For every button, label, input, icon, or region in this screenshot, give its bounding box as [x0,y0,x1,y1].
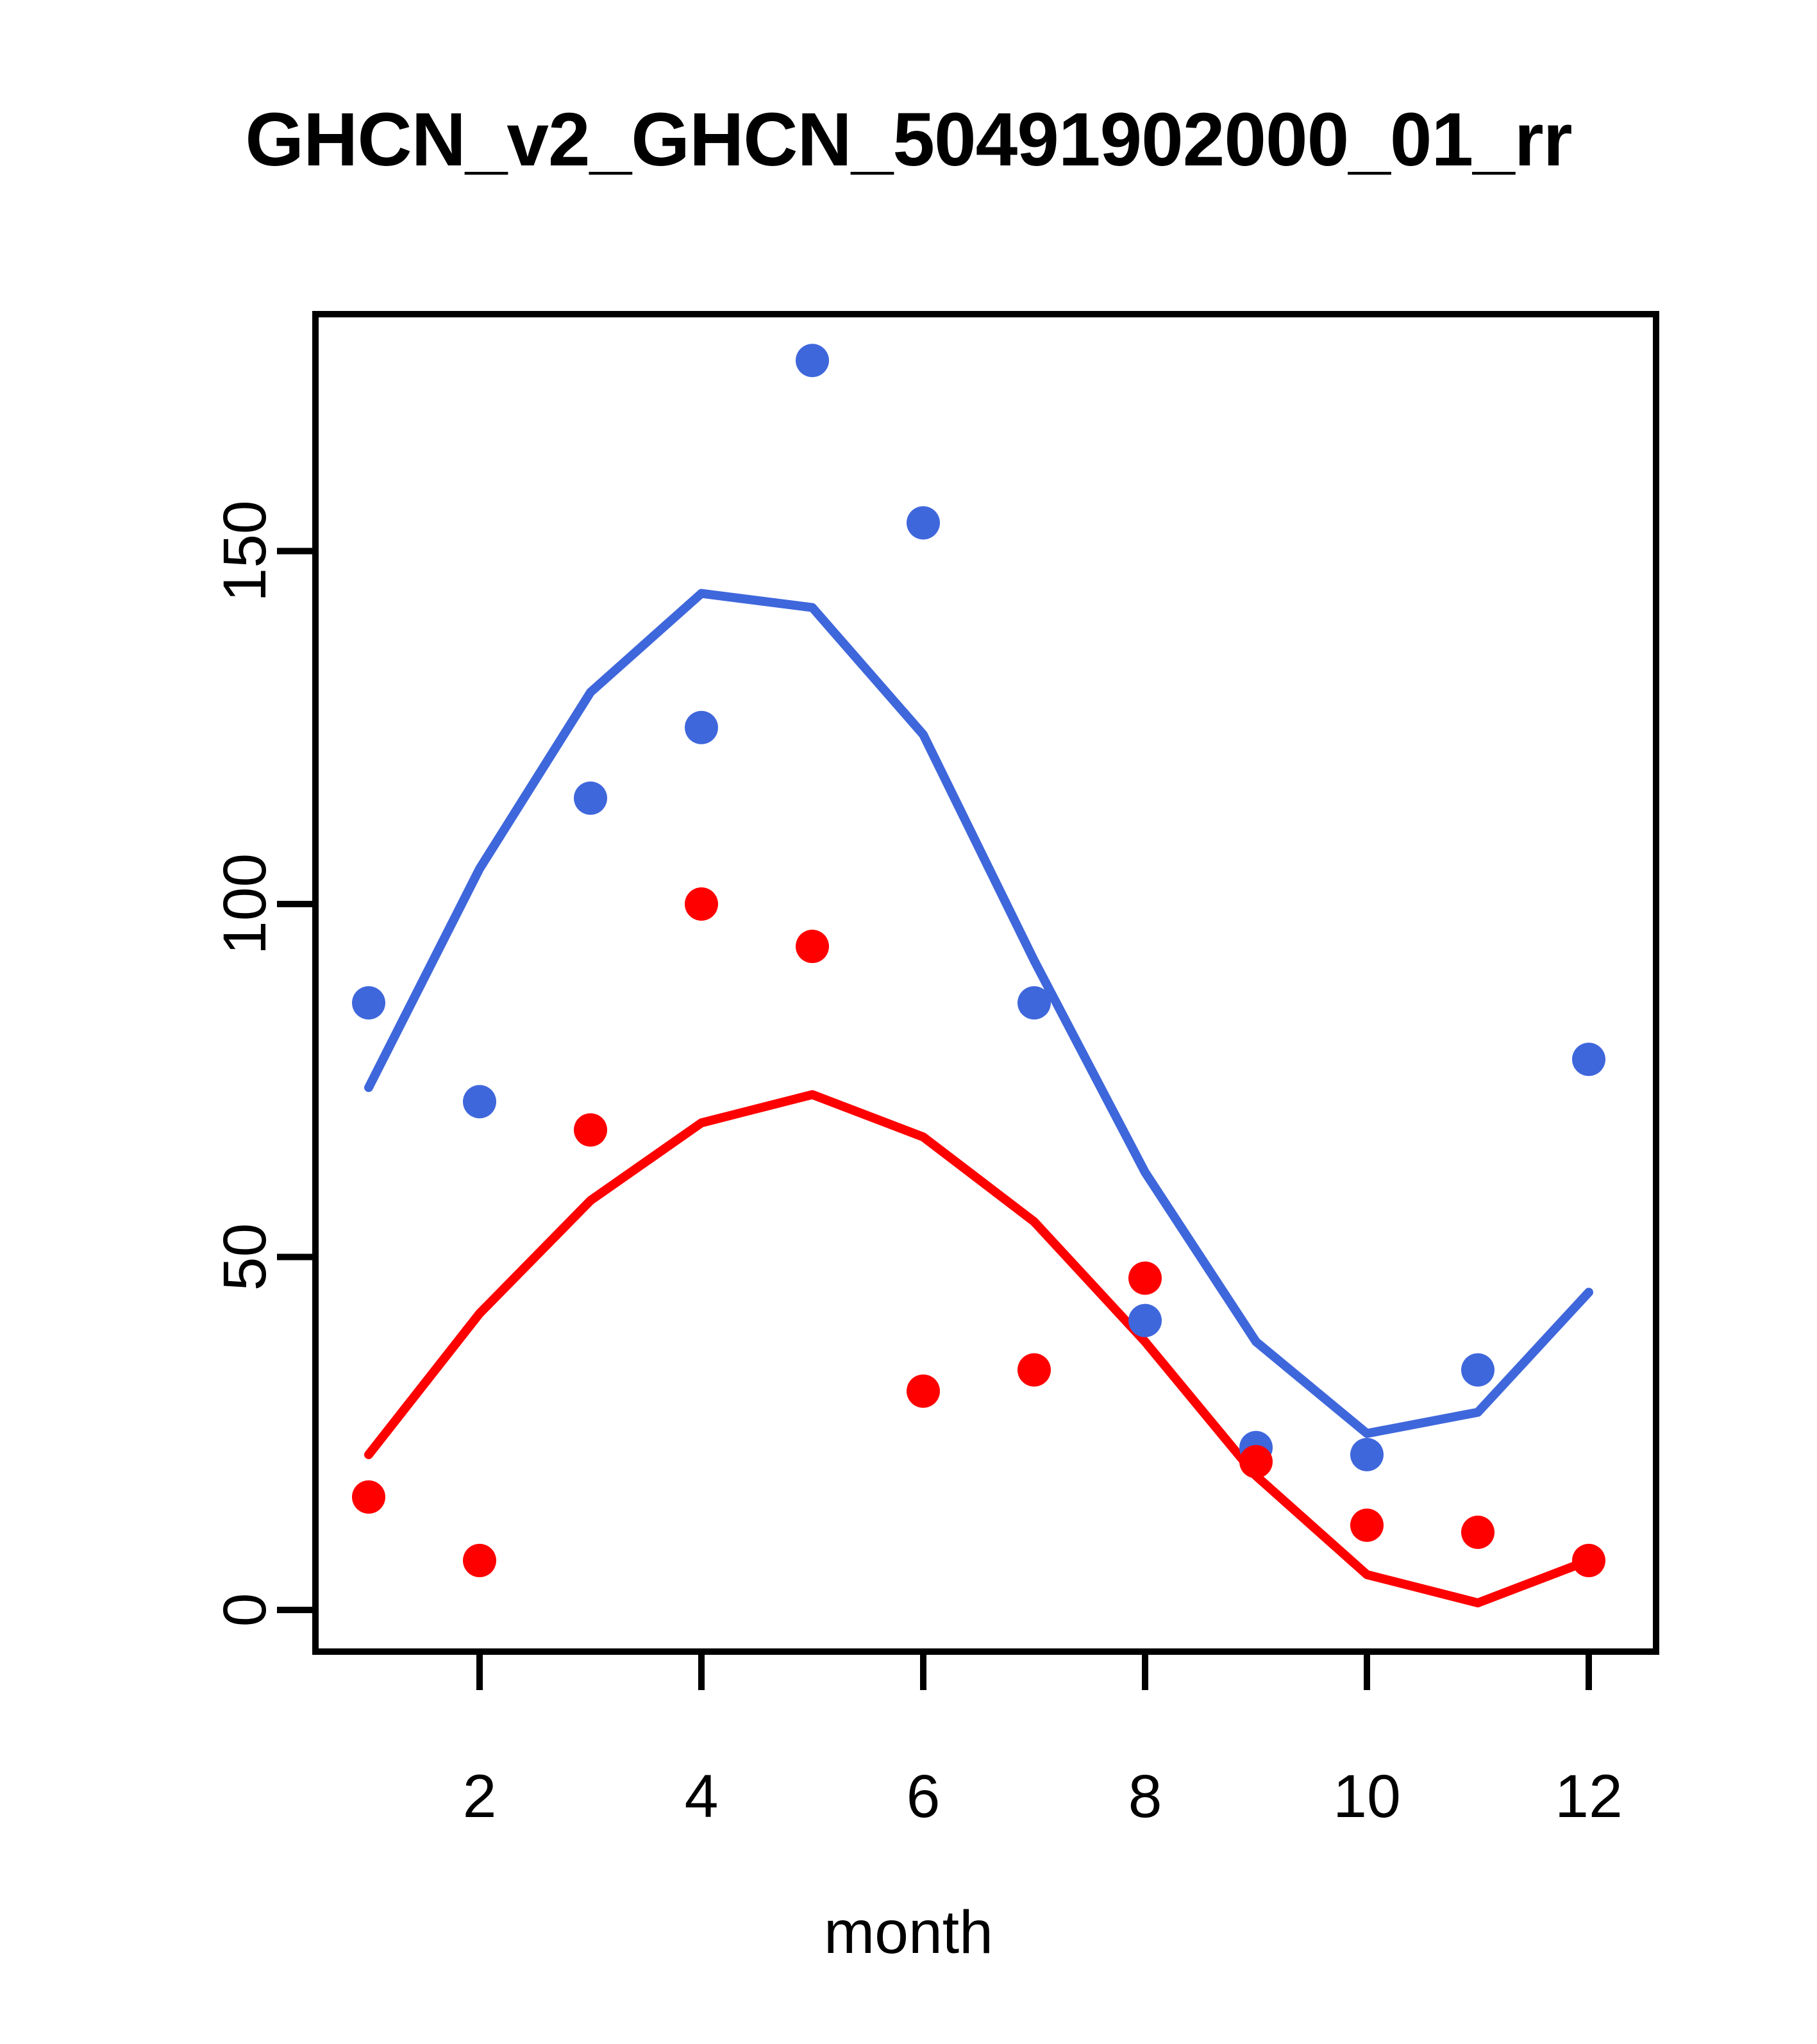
x-tick-label: 2 [463,1763,497,1830]
x-tick-label: 10 [1333,1763,1401,1830]
chart-canvas: GHCN_v2_GHCN_50491902000_01_rr 050100150… [0,0,1817,2044]
y-axis-tick-labels: 050100150 [211,500,279,1627]
x-axis-title: month [0,1898,1817,1968]
y-tick-label: 0 [211,1593,279,1627]
x-axis-tick-labels: 24681012 [463,1763,1623,1830]
data-point [352,1480,385,1514]
data-point [1128,1304,1162,1337]
data-point [574,782,607,815]
series-points [352,344,1605,1577]
data-point [1461,1353,1495,1387]
data-point [463,1085,496,1118]
data-point [574,1113,607,1146]
data-point [1350,1438,1384,1471]
data-point [1350,1509,1384,1542]
plot-area: 050100150 24681012 [0,0,1817,2044]
data-point [352,986,385,1019]
y-axis-ticks [277,551,315,1611]
data-point [1572,1544,1605,1577]
data-point [1128,1262,1162,1295]
plot-frame [315,314,1656,1652]
data-point [907,506,940,539]
data-point [463,1544,496,1577]
data-point [1572,1043,1605,1076]
data-point [796,930,829,963]
data-point [907,1375,940,1408]
data-point [796,344,829,377]
y-tick-label: 50 [211,1223,279,1291]
data-point [1239,1445,1273,1479]
x-tick-label: 12 [1555,1763,1623,1830]
x-tick-label: 4 [685,1763,719,1830]
data-point [685,887,718,921]
y-tick-label: 150 [211,500,279,602]
series-line-red-line [369,1094,1589,1603]
data-point [685,711,718,744]
y-tick-label: 100 [211,853,279,955]
data-point [1017,986,1051,1019]
series-lines [369,594,1589,1603]
data-point [1461,1516,1495,1549]
series-line-blue-line [369,594,1589,1434]
x-axis-ticks [480,1652,1589,1690]
x-tick-label: 8 [1128,1763,1162,1830]
x-tick-label: 6 [907,1763,941,1830]
data-point [1017,1353,1051,1387]
